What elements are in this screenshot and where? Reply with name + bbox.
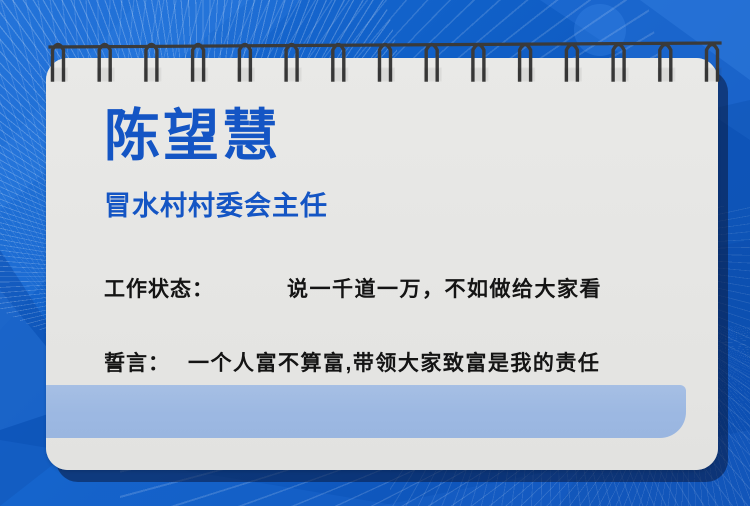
field-value-work-status: 说一千道一万，不如做给大家看 (287, 273, 602, 303)
notepad-card: 陈望慧 冒水村村委会主任 工作状态： 说一千道一万，不如做给大家看 誓言： 一个… (46, 58, 718, 470)
bottom-accent-bar (46, 385, 686, 438)
profile-card-image: 陈望慧 冒水村村委会主任 工作状态： 说一千道一万，不如做给大家看 誓言： 一个… (0, 0, 750, 506)
person-role: 冒水村村委会主任 (104, 193, 328, 220)
field-row-pledge: 誓言： 一个人富不算富,带领大家致富是我的责任 (104, 347, 698, 377)
field-label-pledge: 誓言： (104, 347, 170, 377)
field-label-work-status: 工作状态： (104, 273, 214, 303)
field-value-pledge: 一个人富不算富,带领大家致富是我的责任 (188, 347, 600, 377)
field-row-work-status: 工作状态： 说一千道一万，不如做给大家看 (104, 273, 698, 303)
person-name: 陈望慧 (104, 108, 281, 164)
